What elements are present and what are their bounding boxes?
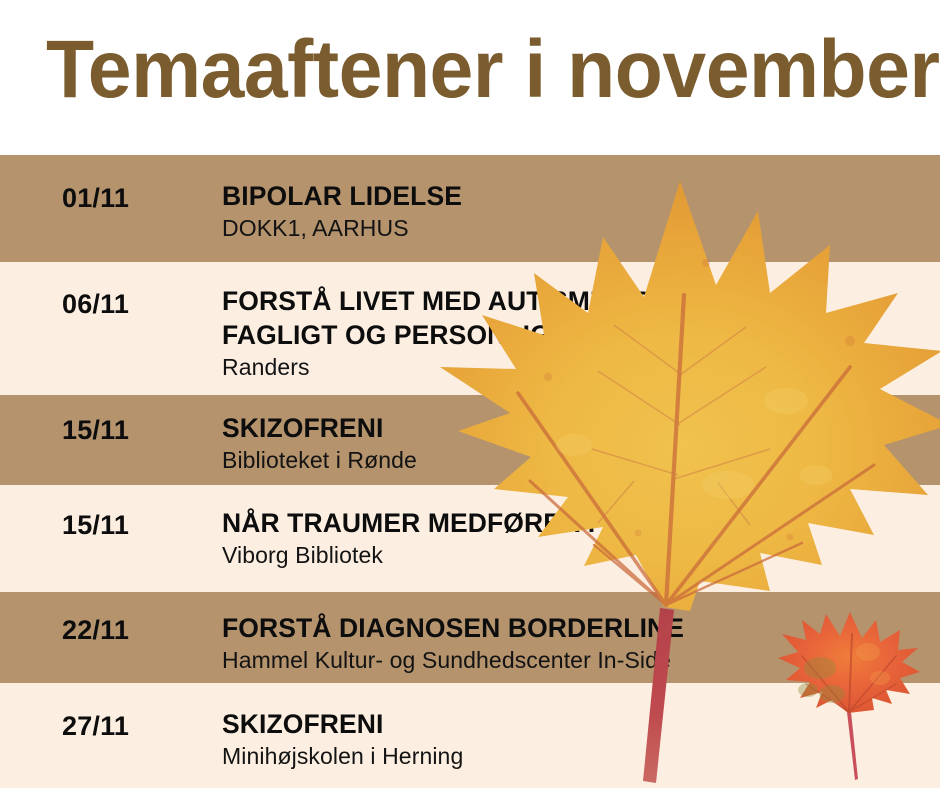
table-row: 06/11 FORSTÅ LIVET MED AUTISME UD FRA ET… [0, 262, 940, 395]
event-text-block: SKIZOFRENI Minihøjskolen i Herning [222, 707, 930, 771]
event-title: NÅR TRAUMER MEDFØRER PTSD [222, 506, 930, 540]
event-title: FORSTÅ LIVET MED AUTISME UD FRA ET [222, 284, 930, 318]
event-date: 06/11 [62, 289, 129, 319]
event-text-block: SKIZOFRENI Biblioteket i Rønde [222, 411, 930, 475]
title-band: Temaaftener i november [0, 0, 940, 155]
table-row: 15/11 NÅR TRAUMER MEDFØRER PTSD Viborg B… [0, 485, 940, 592]
event-date: 15/11 [62, 510, 129, 540]
page-title: Temaaftener i november [46, 22, 872, 118]
event-text-block: NÅR TRAUMER MEDFØRER PTSD Viborg Bibliot… [222, 506, 930, 570]
table-row: 01/11 BIPOLAR LIDELSE DOKK1, AARHUS [0, 155, 940, 262]
event-title: SKIZOFRENI [222, 411, 930, 445]
table-row: 22/11 FORSTÅ DIAGNOSEN BORDERLINE Hammel… [0, 592, 940, 683]
event-venue: Viborg Bibliotek [222, 540, 930, 570]
event-date: 15/11 [62, 415, 129, 445]
event-title: BIPOLAR LIDELSE [222, 179, 930, 213]
event-venue: Hammel Kultur- og Sundhedscenter In-Side [222, 645, 930, 675]
event-text-block: FORSTÅ DIAGNOSEN BORDERLINE Hammel Kultu… [222, 611, 930, 675]
event-text-block: BIPOLAR LIDELSE DOKK1, AARHUS [222, 179, 930, 243]
event-venue: Biblioteket i Rønde [222, 445, 930, 475]
event-title: SKIZOFRENI [222, 707, 930, 741]
event-list: 01/11 BIPOLAR LIDELSE DOKK1, AARHUS 06/1… [0, 155, 940, 788]
event-title: FORSTÅ DIAGNOSEN BORDERLINE [222, 611, 930, 645]
poster-canvas: 01/11 BIPOLAR LIDELSE DOKK1, AARHUS 06/1… [0, 0, 940, 788]
table-row: 15/11 SKIZOFRENI Biblioteket i Rønde [0, 395, 940, 485]
event-text-block: FORSTÅ LIVET MED AUTISME UD FRA ET FAGLI… [222, 284, 930, 382]
event-venue: Randers [222, 352, 930, 382]
event-venue: Minihøjskolen i Herning [222, 741, 930, 771]
event-venue: DOKK1, AARHUS [222, 213, 930, 243]
event-date: 27/11 [62, 711, 129, 741]
event-title-line2: FAGLIGT OG PERSONLIGT PERSPEKTIV [222, 318, 930, 352]
event-date: 22/11 [62, 615, 129, 645]
table-row: 27/11 SKIZOFRENI Minihøjskolen i Herning [0, 683, 940, 788]
event-date: 01/11 [62, 183, 129, 213]
